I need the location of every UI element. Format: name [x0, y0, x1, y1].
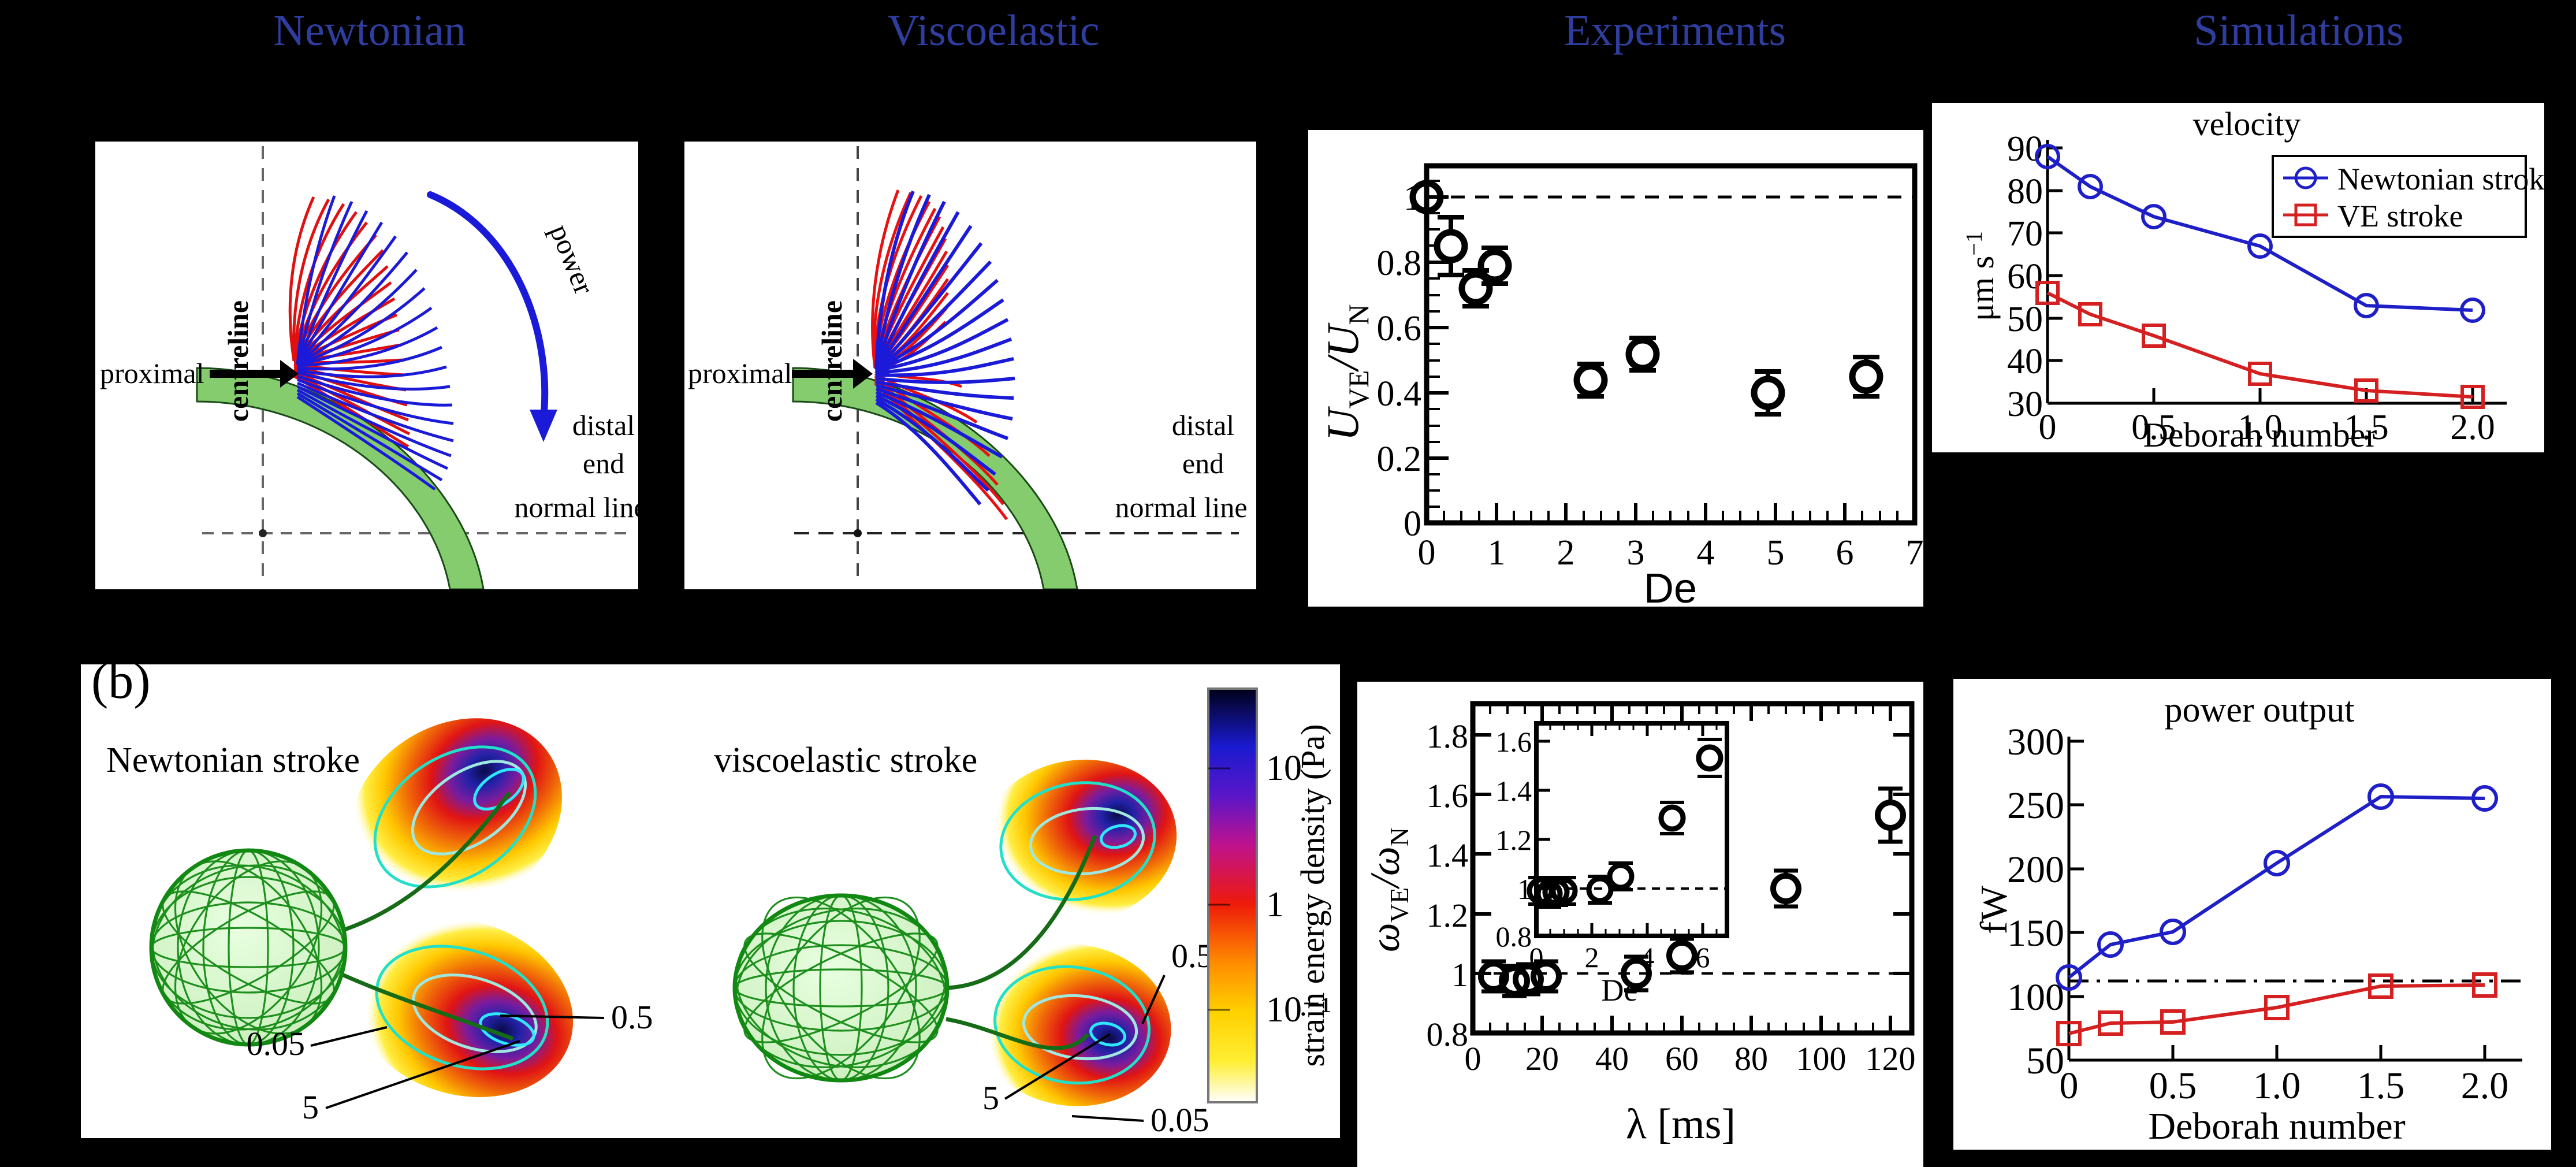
svg-text:0.8: 0.8 — [1377, 244, 1422, 283]
svg-text:70: 70 — [2007, 214, 2043, 254]
svg-text:ωVE/ωN: ωVE/ωN — [1362, 827, 1414, 952]
left-subplot-title: Newtonian stroke — [106, 741, 360, 780]
y-axis-label: ωVE/ωN — [1362, 827, 1414, 952]
inset-y-tick-labels: 0.8 1 1.2 1.4 1.6 — [1496, 726, 1532, 953]
header-simulations: Simulations — [2091, 7, 2507, 54]
y-axis-label: μm s−1 — [1961, 231, 2001, 321]
chart-title: power output — [2165, 690, 2355, 730]
y-axis-label: UVE/UN — [1317, 304, 1375, 441]
left-contour-label-005: 0.05 — [247, 1025, 306, 1062]
svg-text:150: 150 — [2007, 912, 2064, 954]
legend-label-ve: VE stroke — [2337, 199, 2463, 233]
y-axis-tick-labels: 1 0.8 0.6 0.4 0.2 0 — [1377, 179, 1422, 544]
x-axis-ticks — [2069, 1045, 2485, 1060]
distal-label-line1: distal — [572, 409, 635, 441]
svg-text:120: 120 — [1866, 1040, 1916, 1077]
distal-label-line1: distal — [1172, 409, 1234, 441]
plot-frame — [1427, 166, 1915, 523]
left-contour-label-05: 0.5 — [611, 998, 653, 1036]
x-axis-tick-labels: 0 20 40 60 80 100 120 — [1465, 1040, 1916, 1077]
svg-text:100: 100 — [1796, 1040, 1847, 1077]
normal-line-label: normal line — [1115, 491, 1247, 523]
left-contour-label-5: 5 — [302, 1088, 319, 1126]
header-newtonian: Newtonian — [185, 7, 554, 54]
panel-simulations-velocity: velocity 30 40 50 60 70 80 90 — [1932, 103, 2544, 452]
svg-text:4: 4 — [1640, 941, 1655, 973]
svg-text:6: 6 — [1696, 941, 1710, 973]
svg-text:1.2: 1.2 — [1496, 824, 1532, 856]
svg-text:1.8: 1.8 — [1427, 718, 1469, 755]
legend-label-newtonian: Newtonian stroke — [2337, 162, 2544, 196]
data-points — [1413, 183, 1880, 414]
svg-text:1: 1 — [1488, 533, 1506, 573]
distal-label-line2: end — [1182, 447, 1224, 480]
panel-viscoelastic-schematic: centreline proximal distal end normal li… — [684, 142, 1256, 589]
svg-text:1: 1 — [1451, 956, 1468, 994]
svg-text:300: 300 — [2007, 721, 2064, 763]
colorbar-axis-label: strain energy density (Pa) — [1294, 724, 1331, 1066]
x-axis-tick-labels: 0 0.5 1.0 1.5 2.0 — [2060, 1065, 2509, 1107]
header-experiments: Experiments — [1467, 7, 1883, 54]
x-axis-label: λ [ms] — [1626, 1101, 1736, 1148]
svg-text:μm s−1: μm s−1 — [1961, 231, 2001, 321]
y-axis-tick-labels: 30 40 50 60 70 80 90 — [2007, 129, 2043, 424]
svg-text:0.8: 0.8 — [1496, 920, 1532, 953]
svg-text:200: 200 — [2007, 849, 2064, 891]
x-axis-ticks — [2048, 388, 2473, 403]
svg-text:1.2: 1.2 — [1427, 897, 1469, 934]
right-contour-label-5: 5 — [982, 1079, 999, 1117]
normal-line-origin-dot — [854, 529, 862, 537]
svg-text:0: 0 — [2039, 408, 2057, 447]
svg-text:7: 7 — [1906, 533, 1924, 573]
svg-text:fW: fW — [1973, 885, 2015, 934]
right-contour-label-005: 0.05 — [1151, 1101, 1209, 1138]
svg-text:0.8: 0.8 — [1427, 1016, 1469, 1053]
panel-newtonian-schematic: centreline proximal power distal end nor… — [95, 142, 638, 589]
svg-text:40: 40 — [1595, 1040, 1629, 1077]
svg-text:1.4: 1.4 — [1427, 837, 1469, 874]
x-axis-label: De — [1644, 566, 1697, 607]
svg-text:60: 60 — [1665, 1040, 1699, 1077]
y-axis-ticks — [2048, 148, 2063, 403]
svg-text:1.4: 1.4 — [1496, 775, 1532, 807]
proximal-label: proximal — [688, 357, 792, 389]
svg-text:2: 2 — [1585, 941, 1599, 973]
right-subplot-title: viscoelastic stroke — [714, 741, 977, 780]
centreline-label: centreline — [816, 300, 848, 422]
centreline-label: centreline — [222, 300, 254, 422]
y-axis-tick-labels: 0.8 1 1.2 1.4 1.6 1.8 — [1427, 718, 1469, 1053]
svg-text:20: 20 — [1525, 1040, 1559, 1077]
svg-text:0.2: 0.2 — [1377, 440, 1422, 479]
right-callout-line-005 — [1072, 1116, 1144, 1121]
y-axis-tick-labels: 50 100 150 200 250 300 — [2007, 721, 2064, 1082]
svg-text:80: 80 — [2007, 172, 2043, 211]
svg-text:1.0: 1.0 — [2253, 1065, 2301, 1107]
svg-text:80: 80 — [1734, 1040, 1768, 1077]
normal-line-label: normal line — [514, 491, 638, 523]
svg-text:50: 50 — [2007, 300, 2043, 339]
panel-experiments-velocity-ratio: 1 0.8 0.6 0.4 0.2 0 — [1308, 130, 1923, 607]
svg-text:4: 4 — [1697, 533, 1715, 573]
series-newtonian-stroke-line — [2069, 797, 2485, 978]
colorbar: 10 1 10⁻¹ strain energy density (Pa) — [1208, 689, 1331, 1102]
y-axis-label: fW — [1973, 885, 2015, 934]
viscoelastic-cell-body — [719, 870, 963, 1106]
legend: Newtonian stroke VE stroke — [2273, 156, 2544, 237]
svg-text:40: 40 — [2007, 342, 2043, 381]
power-arrow — [430, 195, 545, 419]
panel-label-b: (b) — [91, 664, 151, 709]
newtonian-upper-lobe — [310, 678, 600, 956]
svg-text:1.5: 1.5 — [2357, 1065, 2405, 1107]
svg-text:0: 0 — [1418, 533, 1436, 573]
y-axis-ticks — [2069, 741, 2084, 1060]
svg-text:100: 100 — [2007, 976, 2064, 1019]
svg-text:1.6: 1.6 — [1496, 726, 1532, 758]
inset-x-axis-label: De — [1602, 973, 1638, 1008]
svg-text:5: 5 — [1767, 533, 1785, 573]
viscoelastic-upper-lobe — [966, 744, 1189, 938]
svg-text:0: 0 — [2060, 1065, 2079, 1107]
svg-text:2: 2 — [1557, 533, 1575, 573]
svg-text:1.6: 1.6 — [1427, 777, 1469, 815]
power-arrow-head — [530, 410, 557, 442]
header-viscoelastic: Viscoelastic — [809, 7, 1178, 54]
svg-text:2.0: 2.0 — [2450, 408, 2495, 447]
distal-label-line2: end — [583, 447, 624, 480]
panel-experiments-frequency-ratio: 0.8 1 1.2 1.4 1.6 1.8 — [1357, 682, 1923, 1167]
svg-text:6: 6 — [1836, 533, 1854, 573]
svg-text:0: 0 — [1465, 1040, 1481, 1077]
series-newtonian-stroke-markers — [2057, 785, 2496, 989]
series-ve-stroke-line — [2069, 985, 2485, 1034]
panel-strain-energy-density: (b) Newtonian stroke — [81, 664, 1340, 1138]
right-contour-label-05: 0.5 — [1171, 937, 1213, 975]
newtonian-lower-lobe — [327, 890, 597, 1125]
normal-line-origin-dot — [259, 529, 267, 537]
chart-title: velocity — [2193, 105, 2301, 143]
x-axis-label: Deborah number — [2148, 1105, 2405, 1147]
proximal-label: proximal — [100, 357, 204, 389]
svg-text:3: 3 — [1627, 533, 1645, 573]
svg-text:30: 30 — [2007, 385, 2043, 424]
svg-text:0: 0 — [1529, 941, 1544, 973]
power-label: power — [544, 220, 601, 299]
x-axis-label: Deborah number — [2143, 416, 2377, 452]
svg-text:0.4: 0.4 — [1377, 374, 1422, 414]
svg-text:2.0: 2.0 — [2461, 1065, 2509, 1107]
colorbar-tick-1: 1 — [1266, 885, 1284, 924]
svg-text:UVE/UN: UVE/UN — [1317, 304, 1375, 441]
svg-text:0.6: 0.6 — [1377, 309, 1422, 348]
svg-text:250: 250 — [2007, 785, 2064, 827]
panel-simulations-power-output: power output 50 100 150 200 250 300 — [1953, 679, 2551, 1150]
svg-text:0.5: 0.5 — [2149, 1065, 2197, 1107]
